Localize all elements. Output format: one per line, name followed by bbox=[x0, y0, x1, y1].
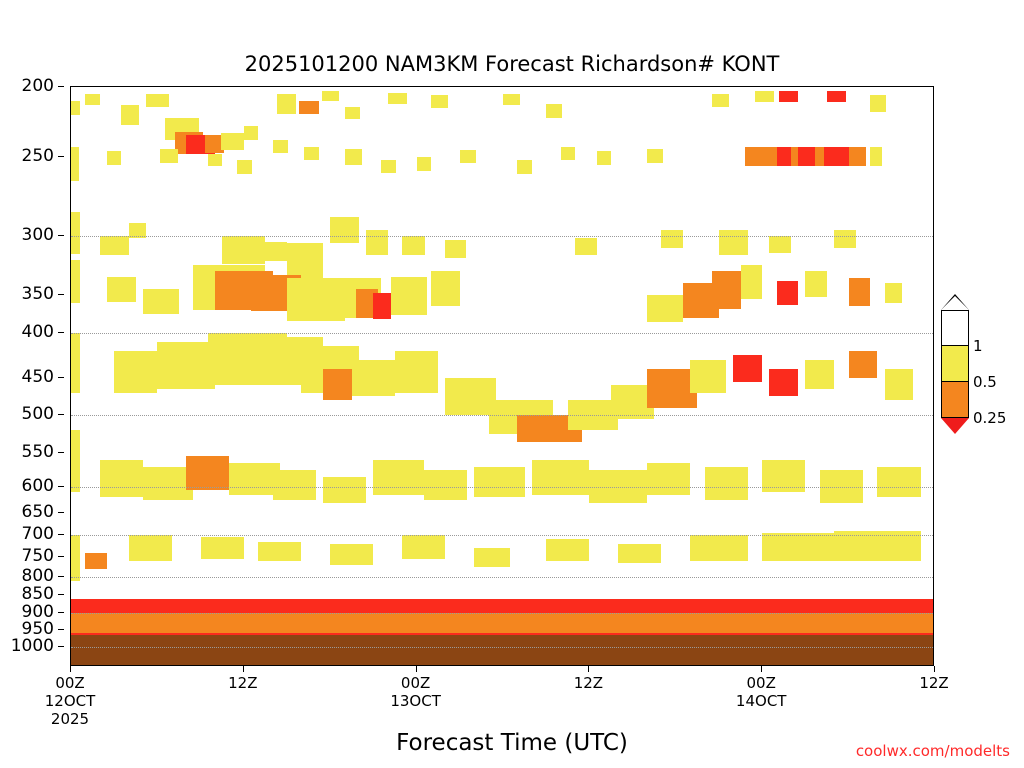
grid-line bbox=[71, 333, 933, 334]
y-tick-mark bbox=[58, 235, 64, 236]
colorbar-label: 0.25 bbox=[973, 409, 1006, 427]
y-tick-mark bbox=[58, 612, 64, 613]
y-tick-mark bbox=[58, 294, 64, 295]
grid-line bbox=[71, 647, 933, 648]
x-tick-label: 12Z bbox=[228, 674, 257, 692]
y-tick-label: 550 bbox=[22, 442, 54, 462]
y-tick-label: 450 bbox=[22, 367, 54, 387]
y-tick-label: 700 bbox=[22, 524, 54, 544]
grid-line bbox=[71, 487, 933, 488]
x-tick-mark bbox=[761, 666, 762, 672]
colorbar-segment bbox=[941, 310, 969, 346]
y-tick-label: 300 bbox=[22, 225, 54, 245]
heatmap-plot-area bbox=[70, 86, 934, 666]
y-tick-mark bbox=[58, 646, 64, 647]
y-tick-label: 650 bbox=[22, 502, 54, 522]
colorbar: 10.50.25 bbox=[941, 310, 969, 450]
x-tick-label: 00Z bbox=[747, 674, 776, 692]
x-tick-date-label: 12OCT bbox=[45, 692, 96, 710]
y-tick-label: 1000 bbox=[11, 636, 54, 656]
credit-watermark: coolwx.com/modelts bbox=[856, 742, 1010, 760]
colorbar-segment bbox=[941, 346, 969, 382]
y-tick-label: 200 bbox=[22, 76, 54, 96]
y-tick-mark bbox=[58, 534, 64, 535]
y-tick-mark bbox=[58, 86, 64, 87]
x-tick-year-label: 2025 bbox=[51, 710, 89, 728]
y-tick-label: 800 bbox=[22, 566, 54, 586]
colorbar-segment bbox=[941, 382, 969, 418]
x-tick-mark bbox=[588, 666, 589, 672]
colorbar-bottom-arrow bbox=[941, 418, 969, 434]
x-tick-date-label: 14OCT bbox=[736, 692, 787, 710]
grid-lines bbox=[71, 87, 933, 665]
y-tick-mark bbox=[58, 629, 64, 630]
y-tick-mark bbox=[58, 332, 64, 333]
grid-line bbox=[71, 236, 933, 237]
x-tick-mark bbox=[243, 666, 244, 672]
grid-line bbox=[71, 613, 933, 614]
grid-line bbox=[71, 415, 933, 416]
grid-line bbox=[71, 577, 933, 578]
x-tick-label: 00Z bbox=[401, 674, 430, 692]
x-tick-mark bbox=[934, 666, 935, 672]
y-tick-label: 600 bbox=[22, 476, 54, 496]
chart-title: 2025101200 NAM3KM Forecast Richardson# K… bbox=[0, 52, 1024, 76]
y-axis: 2002503003504004505005506006507007508008… bbox=[0, 86, 64, 666]
colorbar-label: 0.5 bbox=[973, 373, 997, 391]
y-tick-mark bbox=[58, 576, 64, 577]
y-tick-mark bbox=[58, 594, 64, 595]
x-tick-mark bbox=[416, 666, 417, 672]
x-tick-date-label: 13OCT bbox=[390, 692, 441, 710]
y-tick-mark bbox=[58, 414, 64, 415]
y-tick-mark bbox=[58, 486, 64, 487]
chart-root: 2025101200 NAM3KM Forecast Richardson# K… bbox=[0, 0, 1024, 768]
x-tick-label: 12Z bbox=[574, 674, 603, 692]
x-tick-mark bbox=[70, 666, 71, 672]
y-tick-mark bbox=[58, 556, 64, 557]
colorbar-label: 1 bbox=[973, 337, 983, 355]
y-tick-mark bbox=[58, 512, 64, 513]
y-tick-label: 500 bbox=[22, 404, 54, 424]
y-tick-mark bbox=[58, 156, 64, 157]
x-tick-label: 12Z bbox=[919, 674, 948, 692]
y-tick-label: 250 bbox=[22, 146, 54, 166]
y-tick-mark bbox=[58, 452, 64, 453]
x-axis: 00Z12OCT202512Z00Z13OCT12Z00Z14OCT12Z bbox=[70, 666, 934, 736]
y-tick-label: 750 bbox=[22, 546, 54, 566]
y-tick-label: 400 bbox=[22, 322, 54, 342]
x-tick-label: 00Z bbox=[55, 674, 84, 692]
colorbar-top-arrow bbox=[941, 296, 969, 310]
y-tick-label: 350 bbox=[22, 284, 54, 304]
y-tick-mark bbox=[58, 377, 64, 378]
grid-line bbox=[71, 535, 933, 536]
